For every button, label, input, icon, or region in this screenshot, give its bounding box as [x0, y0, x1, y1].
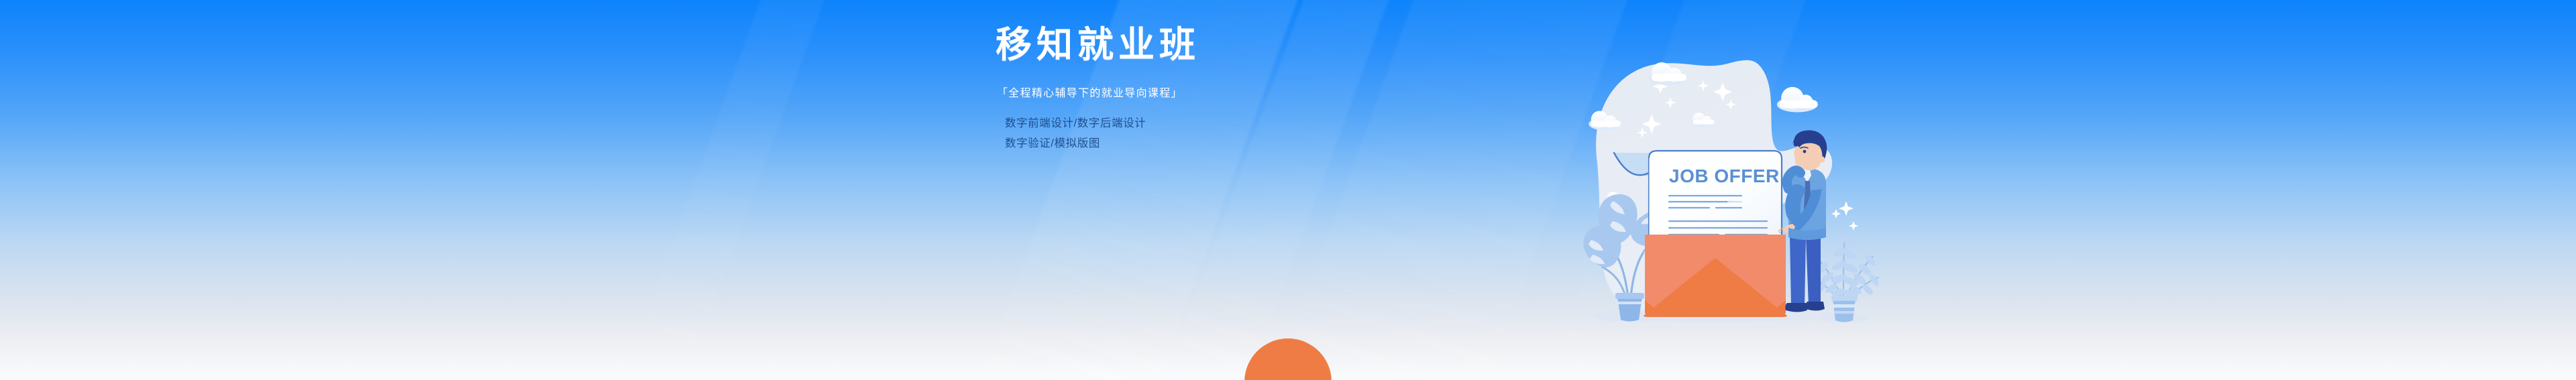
light-ray [587, 0, 850, 380]
job-offer-envelope-illustration: JOB OFFER [1543, 0, 1878, 335]
envelope-icon [1644, 235, 1787, 317]
list-item: 数字验证/模拟版图 [1005, 136, 1546, 151]
page-title: 移知就业班 [996, 25, 1546, 64]
list-item: 数字前端设计/数字后端设计 [1005, 116, 1546, 131]
course-track-list: 数字前端设计/数字后端设计 数字验证/模拟版图 [1005, 116, 1546, 151]
promo-banner: 移知就业班 「全程精心辅导下的就业导向课程」 数字前端设计/数字后端设计 数字验… [0, 0, 2576, 380]
banner-copy: 移知就业班 「全程精心辅导下的就业导向课程」 数字前端设计/数字后端设计 数字验… [996, 25, 1546, 156]
bottom-accent-tab[interactable] [1244, 338, 1332, 380]
banner-subtitle: 「全程精心辅导下的就业导向课程」 [997, 86, 1546, 101]
job-offer-title: JOB OFFER [1669, 166, 1780, 186]
